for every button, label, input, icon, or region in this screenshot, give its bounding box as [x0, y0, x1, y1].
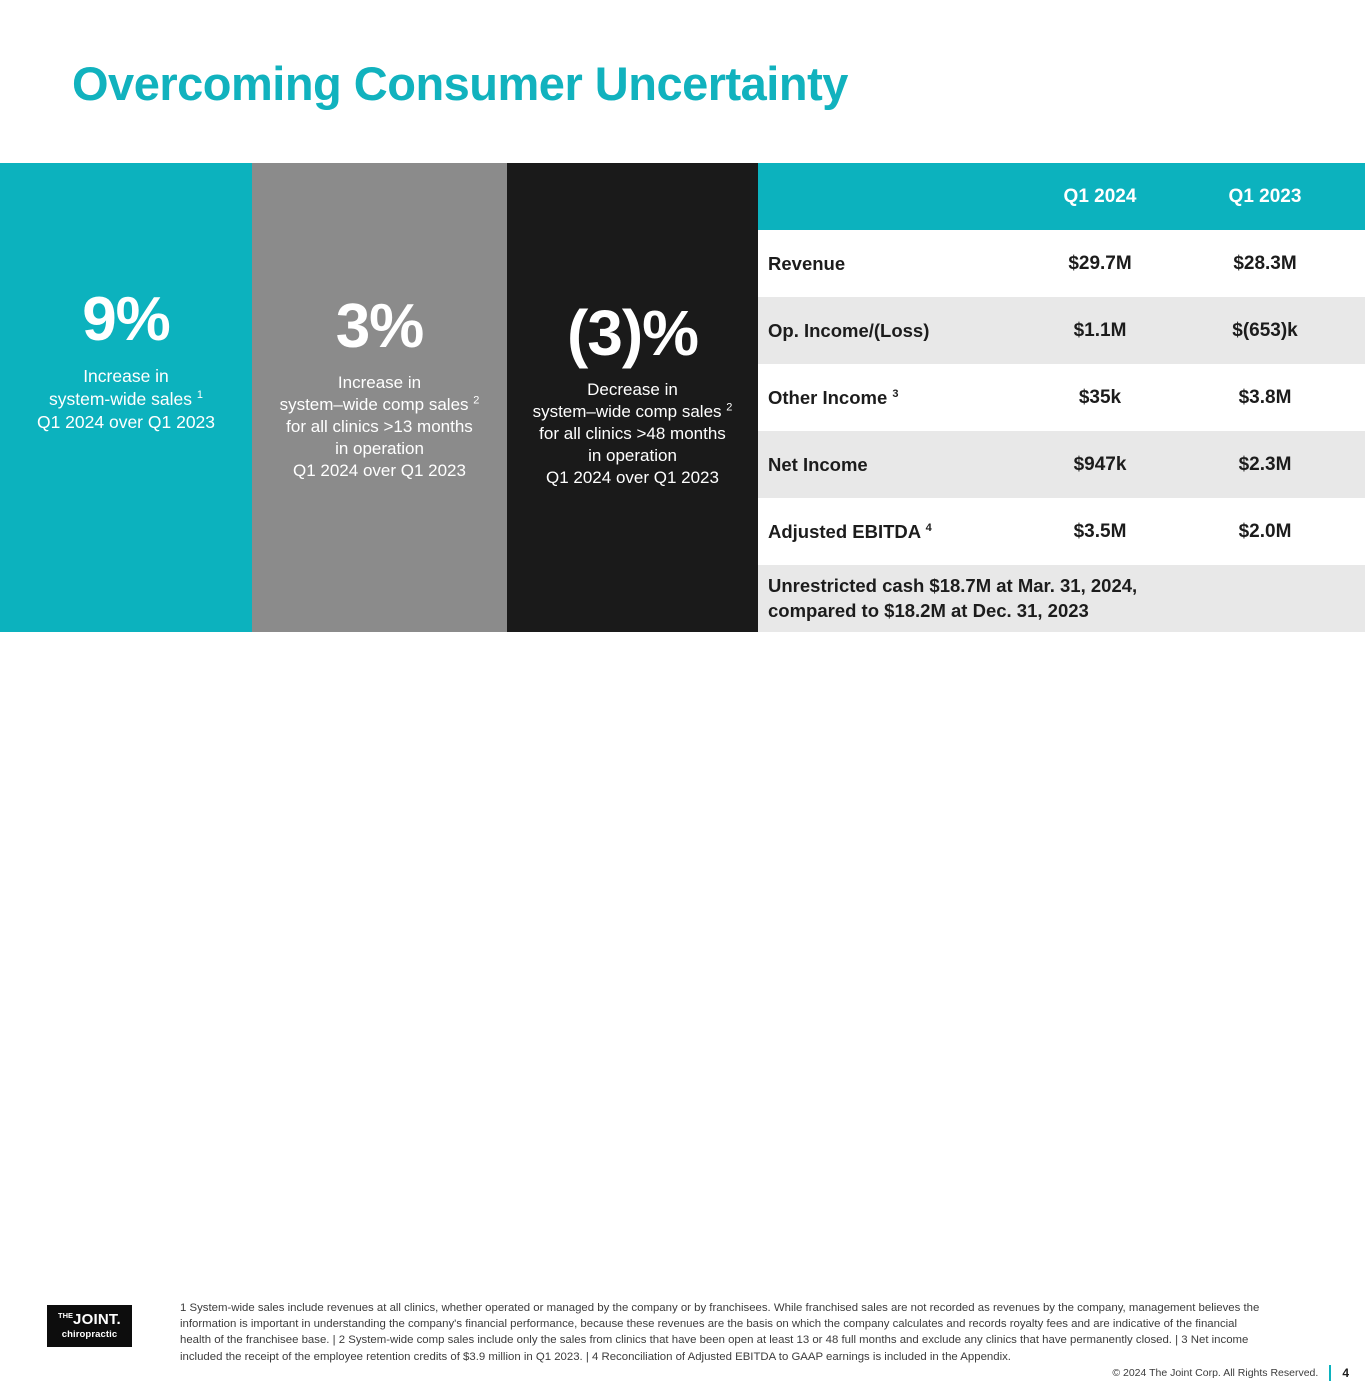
- stat-desc-line-4: in operation: [280, 438, 480, 460]
- cash-note-line-1: Unrestricted cash $18.7M at Mar. 31, 202…: [768, 574, 1137, 598]
- row-label-text: Net Income: [768, 454, 868, 475]
- row-label-text: Adjusted EBITDA: [768, 521, 920, 542]
- stat-desc-line-1: Decrease in: [533, 379, 733, 401]
- stat-description: Decrease in system–wide comp sales 2 for…: [533, 379, 733, 489]
- row-value-q1-2024: $3.5M: [1020, 521, 1180, 543]
- copyright-text: © 2024 The Joint Corp. All Rights Reserv…: [1112, 1367, 1318, 1379]
- row-label: Adjusted EBITDA 4: [758, 521, 1020, 543]
- stat-figure: (3)%: [567, 301, 698, 365]
- row-label-text: Op. Income/(Loss): [768, 320, 929, 341]
- footnotes-text: 1 System-wide sales include revenues at …: [180, 1300, 1265, 1365]
- stat-desc-line-3: for all clinics >48 months: [533, 423, 733, 445]
- row-label: Op. Income/(Loss): [758, 320, 1020, 342]
- stat-desc-line-2-text: system–wide comp sales: [280, 395, 469, 414]
- page-title: Overcoming Consumer Uncertainty: [72, 56, 848, 111]
- stat-desc-line-3: for all clinics >13 months: [280, 416, 480, 438]
- footnote-marker: 2: [473, 394, 479, 406]
- row-label-text: Other Income: [768, 387, 887, 408]
- footnote-marker: 1: [197, 389, 203, 401]
- table-row: Net Income $947k $2.3M: [758, 431, 1365, 498]
- stat-band: 9% Increase in system-wide sales 1 Q1 20…: [0, 163, 758, 632]
- stat-desc-line-2: system–wide comp sales 2: [280, 394, 480, 416]
- page-number: 4: [1342, 1366, 1349, 1380]
- stat-card-comp-sales-13-months: 3% Increase in system–wide comp sales 2 …: [252, 163, 507, 632]
- row-value-q1-2023: $(653)k: [1180, 320, 1350, 342]
- financial-table: Q1 2024 Q1 2023 Revenue $29.7M $28.3M Op…: [758, 163, 1365, 632]
- row-value-q1-2023: $3.8M: [1180, 387, 1350, 409]
- table-row: Other Income 3 $35k $3.8M: [758, 364, 1365, 431]
- stat-desc-line-2: system-wide sales 1: [37, 388, 215, 411]
- table-header-q1-2023: Q1 2023: [1180, 186, 1350, 208]
- table-row: Revenue $29.7M $28.3M: [758, 230, 1365, 297]
- stat-description: Increase in system-wide sales 1 Q1 2024 …: [37, 365, 215, 433]
- cash-note-line-2: compared to $18.2M at Dec. 31, 2023: [768, 599, 1137, 623]
- table-header-row: Q1 2024 Q1 2023: [758, 163, 1365, 230]
- stat-figure: 3%: [336, 296, 424, 358]
- table-header-q1-2024: Q1 2024: [1020, 186, 1180, 208]
- row-label-text: Revenue: [768, 253, 845, 274]
- stat-desc-line-2-text: system–wide comp sales: [533, 402, 722, 421]
- slide-footer: THEJOINT. chiropractic 1 System-wide sal…: [0, 632, 1365, 768]
- stat-desc-line-2: system–wide comp sales 2: [533, 401, 733, 423]
- row-label: Net Income: [758, 454, 1020, 476]
- stat-figure: 9%: [82, 289, 170, 351]
- row-value-q1-2024: $29.7M: [1020, 253, 1180, 275]
- table-row: Op. Income/(Loss) $1.1M $(653)k: [758, 297, 1365, 364]
- table-row: Adjusted EBITDA 4 $3.5M $2.0M: [758, 498, 1365, 565]
- table-cash-note-row: Unrestricted cash $18.7M at Mar. 31, 202…: [758, 565, 1365, 632]
- footnote-marker: 3: [892, 387, 898, 399]
- the-joint-chiropractic-logo: THEJOINT. chiropractic: [47, 1305, 132, 1347]
- row-label: Revenue: [758, 253, 1020, 275]
- logo-the-text: THE: [58, 1311, 73, 1320]
- footnote-marker: 2: [726, 401, 732, 413]
- stat-desc-line-5: Q1 2024 over Q1 2023: [280, 460, 480, 482]
- row-value-q1-2024: $947k: [1020, 454, 1180, 476]
- row-value-q1-2023: $2.0M: [1180, 521, 1350, 543]
- stat-desc-line-3: Q1 2024 over Q1 2023: [37, 411, 215, 434]
- copyright-block: © 2024 The Joint Corp. All Rights Reserv…: [1112, 1365, 1349, 1381]
- row-value-q1-2023: $2.3M: [1180, 454, 1350, 476]
- stat-desc-line-4: in operation: [533, 445, 733, 467]
- footnote-marker: 4: [926, 521, 932, 533]
- stat-desc-line-1: Increase in: [37, 365, 215, 388]
- cash-note: Unrestricted cash $18.7M at Mar. 31, 202…: [758, 574, 1149, 623]
- logo-wordmark: THEJOINT.: [58, 1312, 121, 1327]
- logo-chiropractic-text: chiropractic: [62, 1330, 118, 1340]
- stat-desc-line-1: Increase in: [280, 372, 480, 394]
- page-separator-divider: [1329, 1365, 1331, 1381]
- row-value-q1-2023: $28.3M: [1180, 253, 1350, 275]
- row-value-q1-2024: $35k: [1020, 387, 1180, 409]
- logo-joint-text: JOINT.: [73, 1311, 121, 1328]
- stat-card-comp-sales-48-months: (3)% Decrease in system–wide comp sales …: [507, 163, 758, 632]
- row-value-q1-2024: $1.1M: [1020, 320, 1180, 342]
- stat-desc-line-5: Q1 2024 over Q1 2023: [533, 467, 733, 489]
- stat-card-system-wide-sales: 9% Increase in system-wide sales 1 Q1 20…: [0, 163, 252, 632]
- row-label: Other Income 3: [758, 387, 1020, 409]
- stat-description: Increase in system–wide comp sales 2 for…: [280, 372, 480, 482]
- stat-desc-line-2-text: system-wide sales: [49, 389, 192, 409]
